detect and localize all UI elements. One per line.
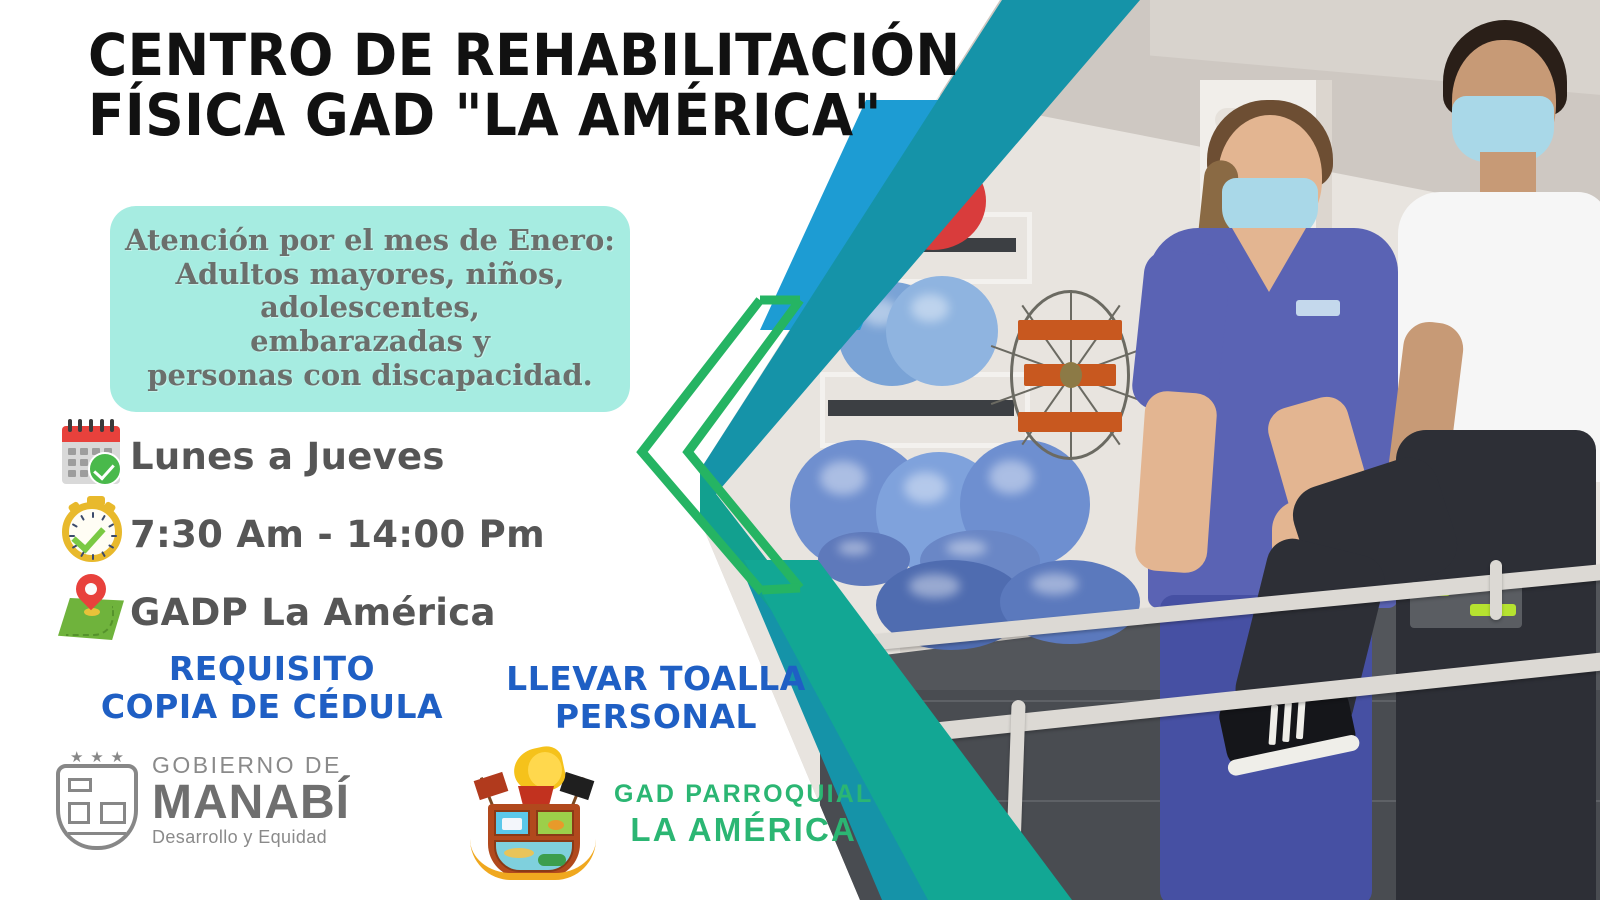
la-america-coat-of-arms-icon: [470, 748, 596, 880]
map-pin-icon: [46, 576, 130, 648]
shield-segment: [100, 802, 126, 824]
star-icon: ★: [70, 750, 83, 765]
detail-row-days: Lunes a Jueves: [46, 420, 606, 492]
stopwatch-check-mark: [71, 518, 105, 553]
gad-line-2: LA AMÉRICA: [614, 811, 874, 849]
manabi-stars: ★ ★ ★: [70, 750, 124, 765]
stopwatch-tick: [80, 515, 85, 521]
stopwatch-tick: [101, 551, 106, 557]
calendar-cell: [68, 448, 76, 455]
star-icon: ★: [111, 750, 124, 765]
stopwatch-check-icon: [46, 498, 130, 570]
title-line-2: Física GAD "La América": [88, 86, 842, 146]
shield-segment: [68, 778, 92, 792]
calendar-check-icon: [46, 420, 130, 492]
requirement-towel: Llevar toalla personal: [496, 660, 816, 735]
manabi-line-3: Desarrollo y Equidad: [152, 827, 350, 848]
requirement-cedula: Requisito Copia de cédula: [82, 650, 462, 725]
calendar-ring: [78, 419, 82, 432]
requirement-cedula-line-1: Requisito: [82, 650, 462, 688]
stopwatch-ear: [102, 501, 116, 514]
requirement-towel-line-2: personal: [496, 698, 816, 736]
calendar-ring: [89, 419, 93, 432]
stopwatch-tick: [72, 523, 78, 528]
parallel-bar-rail: [881, 652, 1600, 746]
gobierno-manabi-logo: ★ ★ ★ GOBIERNO DE MANABÍ Desarrollo y Eq…: [56, 750, 350, 850]
info-line: Adultos mayores, niños,: [120, 258, 620, 292]
crest-flag: [474, 772, 509, 800]
star-icon: ★: [90, 750, 103, 765]
calendar-cell: [68, 459, 76, 466]
calendar-cell: [80, 459, 88, 466]
info-line: adolescentes,: [120, 291, 620, 325]
poster-canvas: Centro de Rehabilitación Física GAD "La …: [0, 0, 1600, 900]
manabi-wordmark: GOBIERNO DE MANABÍ Desarrollo y Equidad: [152, 752, 350, 849]
stopwatch-tick: [92, 554, 94, 560]
stopwatch-crown: [87, 496, 105, 506]
gad-la-america-logo: GAD PARROQUIAL LA AMÉRICA: [470, 748, 874, 880]
detail-row-location: GADP La América: [46, 576, 606, 648]
stopwatch-tick: [92, 512, 94, 518]
calendar-ring: [110, 419, 114, 432]
calendar-cell: [80, 470, 88, 477]
calendar-ring: [100, 419, 104, 432]
stopwatch-tick: [108, 544, 114, 549]
calendar-cell: [80, 448, 88, 455]
manabi-line-1: GOBIERNO DE: [152, 752, 350, 779]
manabi-line-2: MANABÍ: [152, 779, 350, 828]
stopwatch-tick: [111, 535, 117, 537]
shield-segment: [68, 802, 90, 824]
check-badge-icon: [88, 452, 122, 486]
schedule-details-list: Lunes a Jueves: [46, 420, 606, 654]
parallel-bar-post: [1490, 560, 1502, 620]
detail-row-hours: 7:30 Am - 14:00 Pm: [46, 498, 606, 570]
manabi-shield-icon: ★ ★ ★: [56, 750, 138, 850]
attention-info-box: Atención por el mes de Enero: Adultos ma…: [110, 206, 630, 412]
requirement-towel-line-1: Llevar toalla: [496, 660, 816, 698]
info-line: Atención por el mes de Enero:: [120, 224, 620, 258]
crest-produce-icon: [548, 820, 564, 830]
parallel-bar-rail: [851, 564, 1600, 653]
detail-text-location: GADP La América: [130, 591, 496, 634]
calendar-cell: [68, 470, 76, 477]
crest-book-icon: [502, 818, 522, 830]
stopwatch-tick: [108, 523, 114, 528]
crest-torch-flame-inner: [528, 752, 562, 788]
info-line: embarazadas y: [120, 325, 620, 359]
gad-wordmark: GAD PARROQUIAL LA AMÉRICA: [614, 780, 874, 849]
title-line-1: Centro de Rehabilitación: [88, 26, 842, 86]
crest-laurel: [470, 839, 596, 880]
stopwatch-ear: [67, 501, 81, 514]
gad-line-1: GAD PARROQUIAL: [614, 780, 874, 809]
stopwatch-face: [62, 502, 122, 562]
detail-text-days: Lunes a Jueves: [130, 435, 445, 478]
calendar-body: [62, 426, 120, 484]
calendar-ring: [68, 419, 72, 432]
poster-title: Centro de Rehabilitación Física GAD "La …: [88, 26, 842, 145]
shield-segment: [68, 832, 126, 835]
info-line: personas con discapacidad.: [120, 359, 620, 393]
requirement-cedula-line-2: Copia de cédula: [82, 688, 462, 726]
detail-text-hours: 7:30 Am - 14:00 Pm: [130, 513, 545, 556]
stopwatch-tick: [101, 515, 106, 521]
